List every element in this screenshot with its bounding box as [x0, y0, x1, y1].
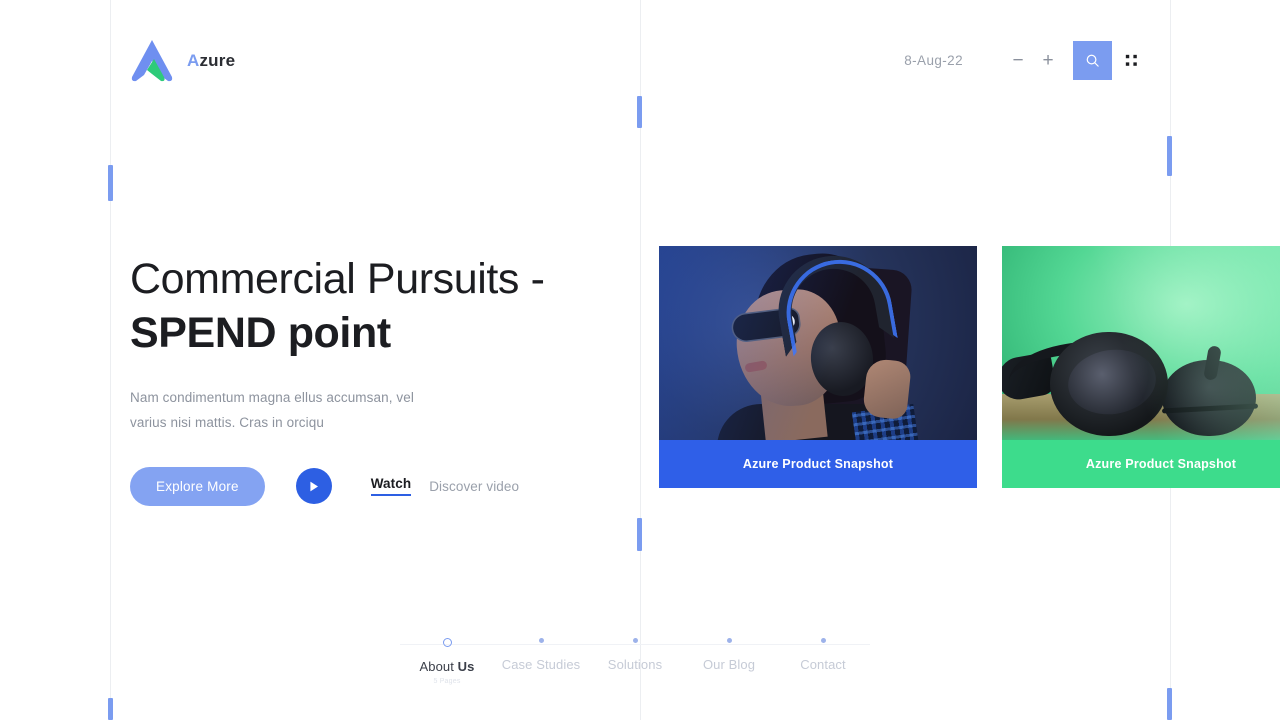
play-icon — [308, 480, 320, 493]
bottom-navigation: About Us 5 Pages Case Studies Solutions … — [400, 638, 870, 685]
nav-item-case-studies[interactable]: Case Studies — [494, 638, 588, 685]
play-video-button[interactable] — [296, 468, 332, 504]
page-title: Commercial Pursuits - SPEND point — [130, 252, 600, 360]
brand-initial: A — [187, 51, 199, 70]
grid-dots-icon — [1123, 52, 1140, 69]
nav-label-our-blog: Our Blog — [703, 657, 755, 672]
nav-item-our-blog[interactable]: Our Blog — [682, 638, 776, 685]
explore-more-button[interactable]: Explore More — [130, 467, 265, 506]
brand-rest: zure — [199, 51, 235, 70]
nav-label-solutions: Solutions — [608, 657, 662, 672]
nav-item-contact[interactable]: Contact — [776, 638, 870, 685]
hero-cta-row: Explore More Watch Discover video — [130, 467, 600, 506]
nav-dot-icon — [633, 638, 638, 643]
guide-rail-left — [110, 0, 111, 720]
header-controls: 8-Aug-22 − + — [904, 41, 1151, 80]
zoom-in-button[interactable]: + — [1033, 46, 1063, 76]
rail-accent-right-bottom — [1167, 688, 1172, 720]
nav-sub-about-us: 5 Pages — [433, 678, 460, 685]
product-snapshot-card-1[interactable]: Azure Product Snapshot — [659, 246, 977, 488]
nav-item-about-us[interactable]: About Us 5 Pages — [400, 638, 494, 685]
nav-item-solutions[interactable]: Solutions — [588, 638, 682, 685]
hero-section: Commercial Pursuits - SPEND point Nam co… — [130, 252, 600, 506]
nav-dot-icon — [821, 638, 826, 643]
brand-name: Azure — [187, 51, 235, 71]
discover-video-link[interactable]: Discover video — [429, 479, 519, 494]
card-1-image — [659, 246, 977, 440]
rail-accent-mid-bottom — [637, 518, 642, 551]
card-2-caption: Azure Product Snapshot — [1002, 440, 1280, 488]
nav-label-about-us-plain: About — [419, 659, 457, 674]
search-icon — [1085, 53, 1100, 68]
hero-paragraph-line-2: varius nisi mattis. Cras in orciqu — [130, 415, 324, 430]
product-snapshot-card-2[interactable]: Azure Product Snapshot — [1002, 246, 1280, 488]
nav-label-about-us-bold: Us — [458, 659, 475, 674]
header-date: 8-Aug-22 — [904, 53, 963, 68]
nav-dot-icon — [539, 638, 544, 643]
nav-dot-active-icon — [443, 638, 452, 647]
card-2-image — [1002, 246, 1280, 440]
nav-label-case-studies: Case Studies — [502, 657, 581, 672]
hero-paragraph-line-1: Nam condimentum magna ellus accumsan, ve… — [130, 390, 414, 405]
card-1-caption: Azure Product Snapshot — [659, 440, 977, 488]
hero-title-line-1: Commercial Pursuits - — [130, 255, 545, 303]
search-button[interactable] — [1073, 41, 1112, 80]
rail-accent-left-bottom — [108, 698, 113, 720]
rail-accent-mid-top — [637, 96, 642, 128]
nav-dot-icon — [727, 638, 732, 643]
hero-title-line-2: SPEND point — [130, 306, 600, 360]
hero-paragraph: Nam condimentum magna ellus accumsan, ve… — [130, 386, 600, 435]
apps-menu-button[interactable] — [1112, 41, 1151, 80]
rail-accent-right-top — [1167, 136, 1172, 176]
page-root: Azure 8-Aug-22 − + Commercial Pursuits -… — [0, 0, 1280, 720]
watch-link[interactable]: Watch — [371, 476, 412, 496]
nav-label-contact: Contact — [800, 657, 846, 672]
nav-label-about-us: About Us — [419, 659, 474, 674]
rail-accent-left-top — [108, 165, 113, 201]
brand-logo-area[interactable]: Azure — [130, 37, 235, 85]
zoom-out-button[interactable]: − — [1003, 46, 1033, 76]
azure-triangle-logo-icon — [130, 37, 174, 85]
